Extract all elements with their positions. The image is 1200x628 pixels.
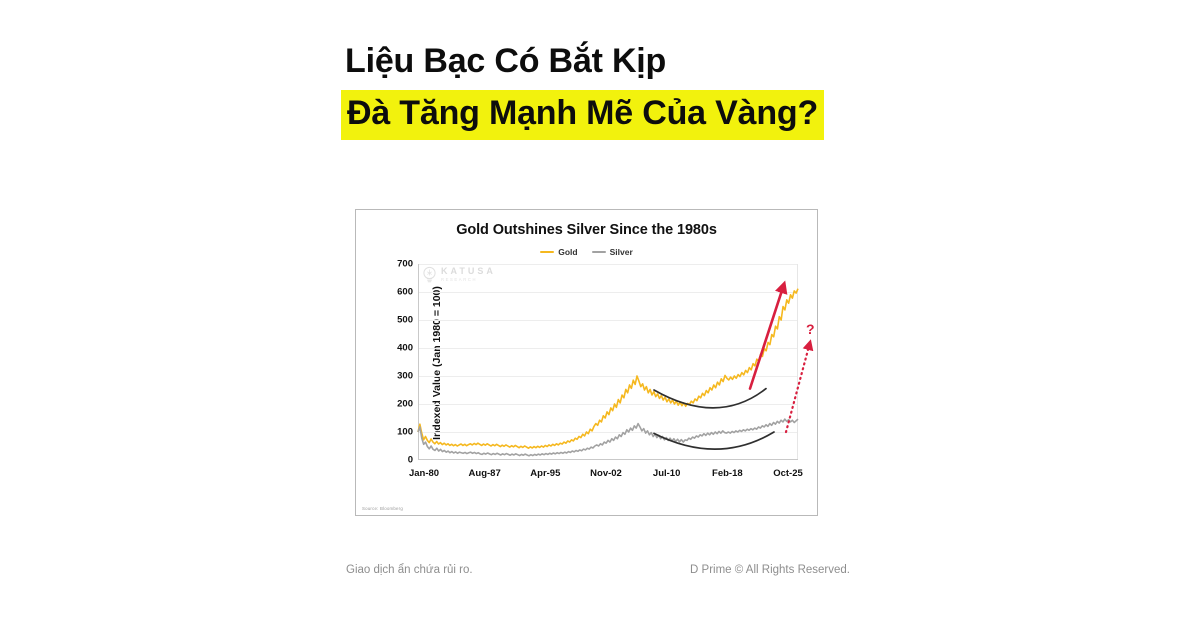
- headline-block: Liệu Bạc Có Bắt Kịp Đà Tăng Mạnh Mẽ Của …: [345, 40, 1045, 140]
- katusa-watermark: KATUSA RESEARCH: [422, 266, 496, 284]
- chart-legend: Gold Silver: [356, 247, 817, 257]
- y-tick-label: 500: [397, 315, 413, 326]
- y-tick-label: 300: [397, 371, 413, 382]
- y-tick-label: 200: [397, 399, 413, 410]
- x-tick-label: Aug-87: [469, 468, 501, 479]
- legend-swatch-gold: [540, 251, 554, 254]
- x-tick-label: Feb-18: [712, 468, 743, 479]
- plot-area: 0100200300400500600700 Jan-80Aug-87Apr-9…: [418, 264, 798, 460]
- legend-item-gold: Gold: [540, 247, 577, 257]
- gold-cup-arc: [654, 389, 766, 408]
- question-annotation: ?: [806, 321, 815, 337]
- legend-item-silver: Silver: [592, 247, 633, 257]
- x-tick-label: Apr-95: [530, 468, 560, 479]
- headline-line-1: Liệu Bạc Có Bắt Kịp: [345, 40, 1045, 84]
- annotation-layer: [418, 264, 798, 460]
- watermark-sub: RESEARCH: [441, 278, 496, 282]
- y-tick-label: 0: [408, 455, 413, 466]
- x-tick-label: Nov-02: [590, 468, 622, 479]
- y-tick-label: 400: [397, 343, 413, 354]
- x-tick-label: Jul-10: [653, 468, 680, 479]
- footer-disclaimer: Giao dịch ẩn chứa rủi ro.: [346, 564, 473, 576]
- y-tick-label: 600: [397, 287, 413, 298]
- lightbulb-icon: [422, 266, 437, 284]
- y-tick-label: 700: [397, 259, 413, 270]
- x-tick-label: Oct-25: [773, 468, 803, 479]
- silver-cup-arc: [654, 432, 774, 449]
- chart-title: Gold Outshines Silver Since the 1980s: [356, 222, 817, 238]
- silver-question-arrow: [786, 342, 810, 432]
- legend-label-gold: Gold: [558, 247, 577, 257]
- legend-label-silver: Silver: [610, 247, 633, 257]
- footer-copyright: D Prime © All Rights Reserved.: [690, 564, 850, 576]
- x-tick-label: Jan-80: [409, 468, 439, 479]
- gold-breakout-arrow: [750, 284, 784, 388]
- y-tick-label: 100: [397, 427, 413, 438]
- headline-line-2: Đà Tăng Mạnh Mẽ Của Vàng?: [341, 90, 824, 141]
- social-card: Liệu Bạc Có Bắt Kịp Đà Tăng Mạnh Mẽ Của …: [0, 0, 1200, 628]
- chart-card: Gold Outshines Silver Since the 1980s Go…: [355, 209, 818, 516]
- watermark-name: KATUSA: [441, 267, 496, 276]
- legend-swatch-silver: [592, 251, 606, 254]
- source-note: Source: Bloomberg: [362, 506, 403, 511]
- watermark-text: KATUSA RESEARCH: [441, 267, 496, 282]
